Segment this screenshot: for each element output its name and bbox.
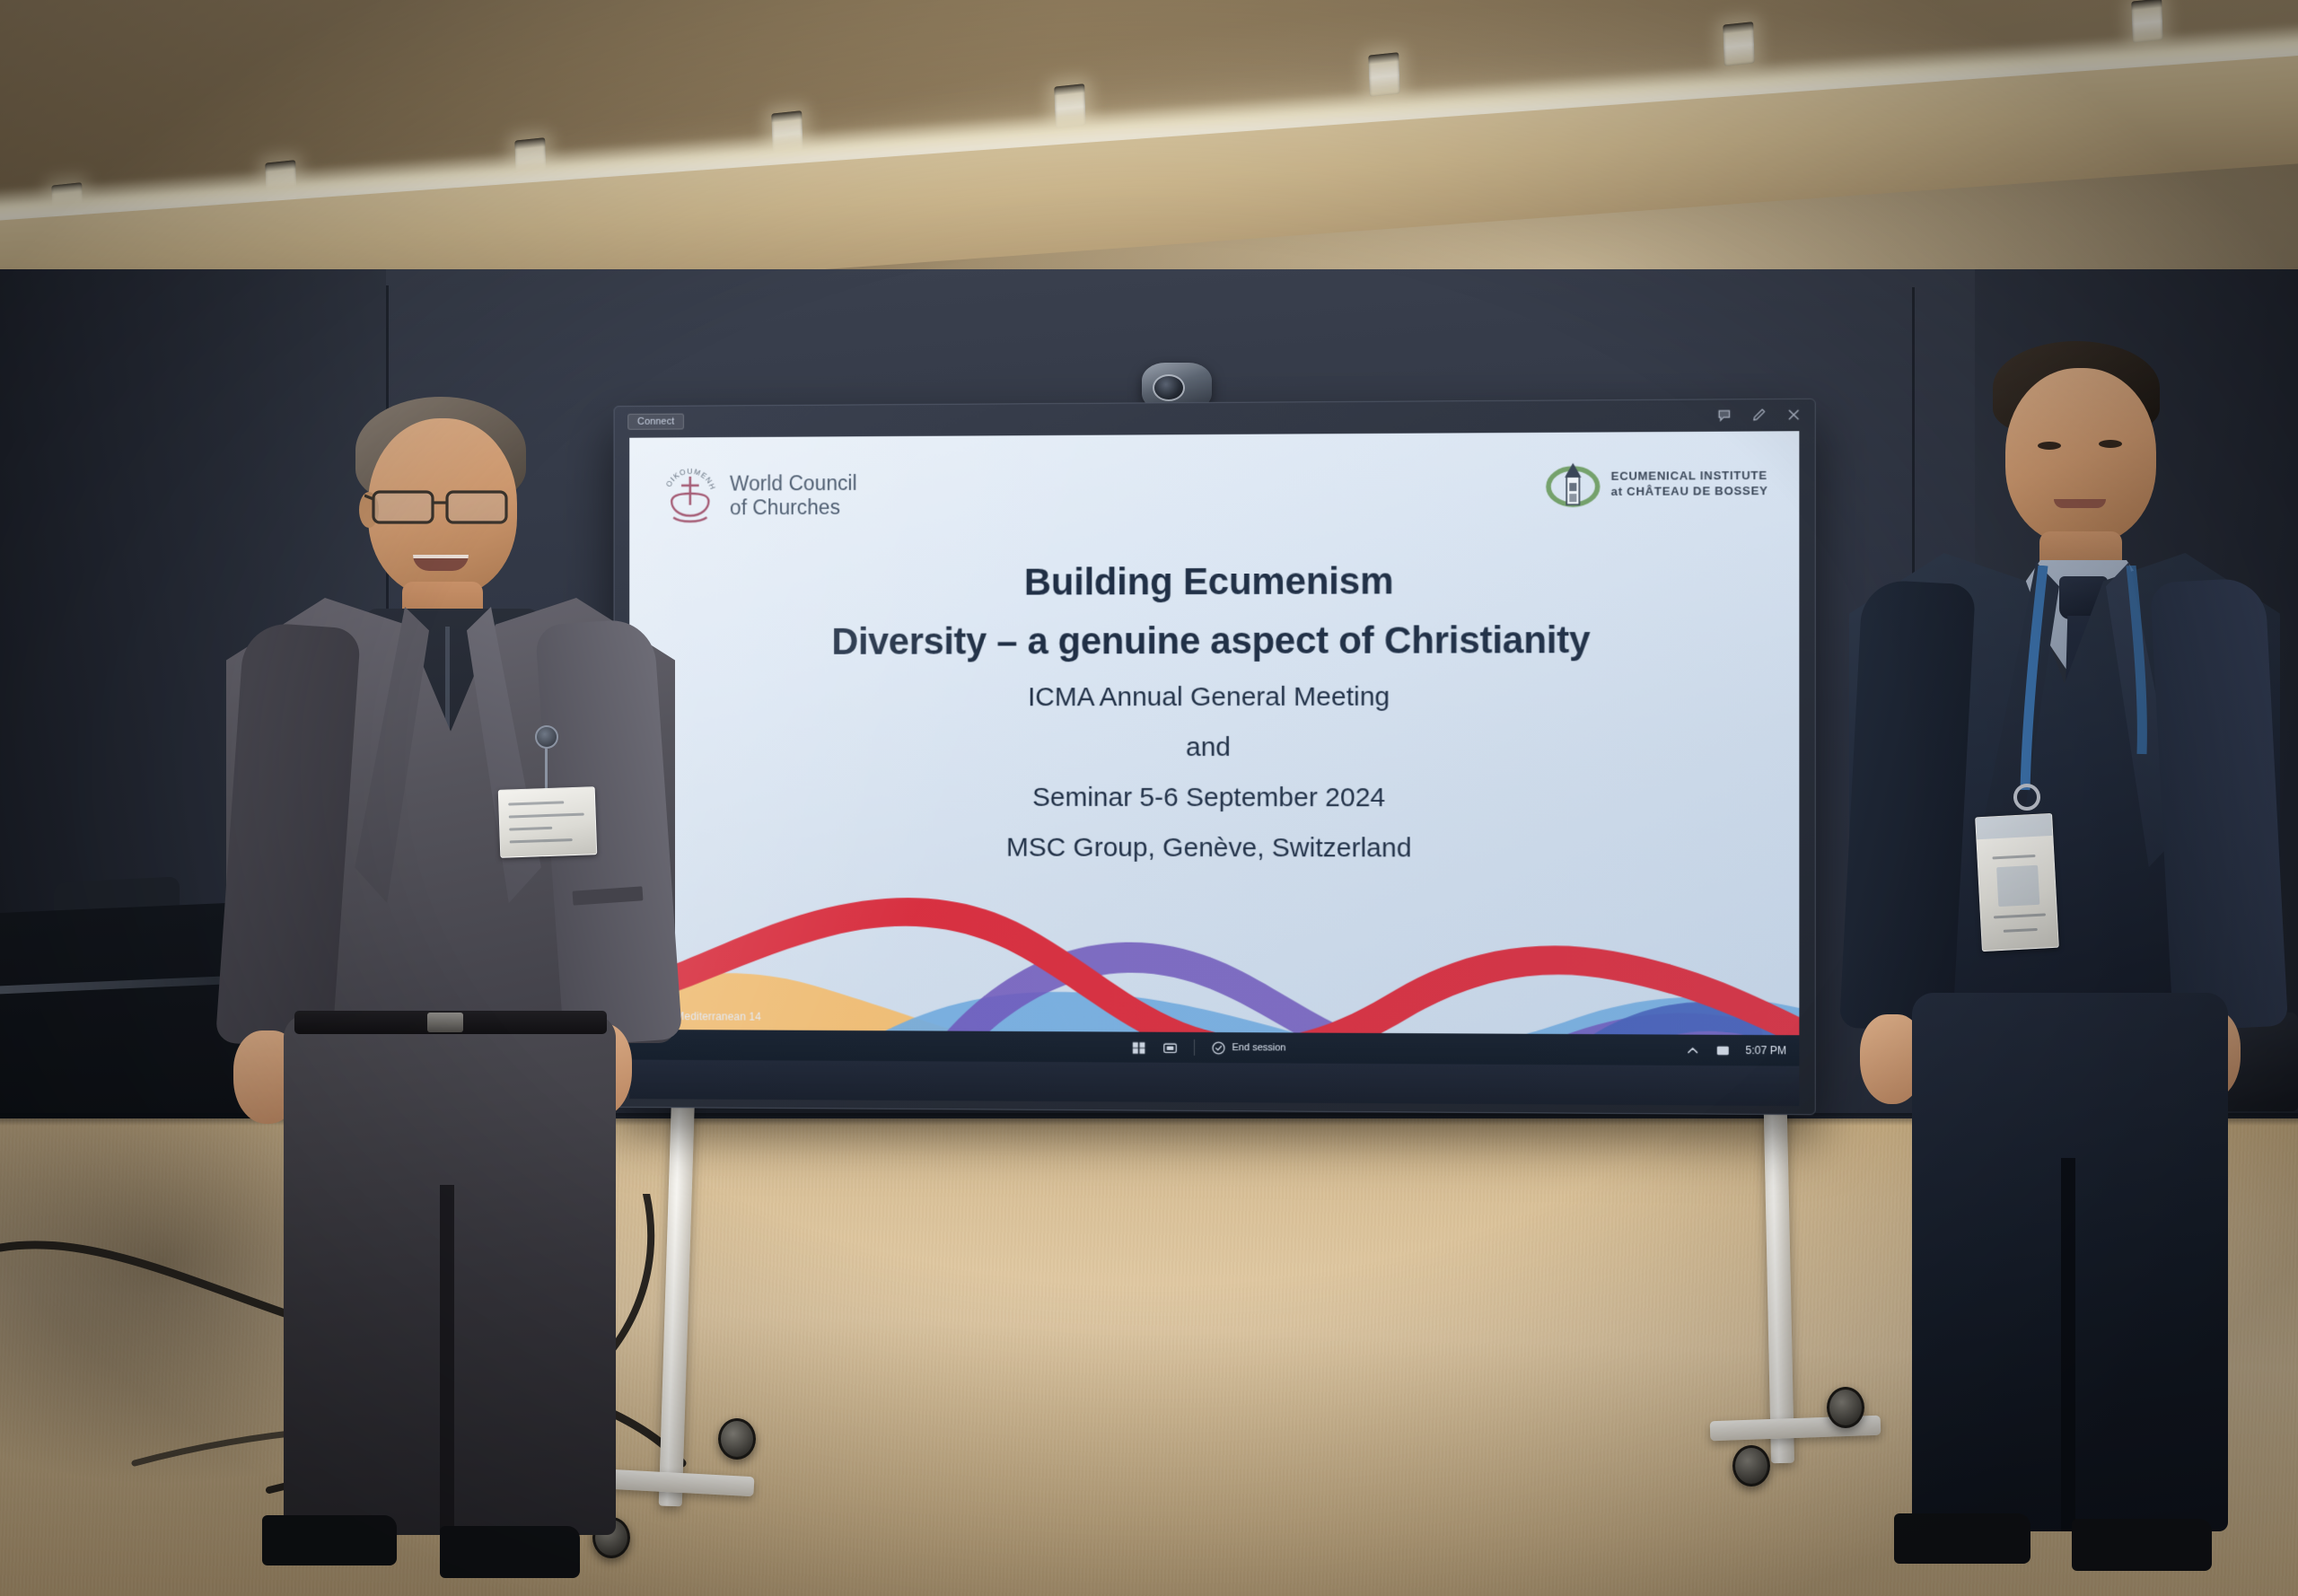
camera-lens-icon (1153, 374, 1185, 401)
person-right-shoe-left (1894, 1513, 2030, 1564)
taskbar-tray[interactable]: 5:07 PM (1685, 1035, 1786, 1066)
taskbar-clock[interactable]: 5:07 PM (1746, 1044, 1787, 1057)
bossey-emblem-icon (1545, 458, 1601, 513)
wcc-logo-text: World Councilof Churches (730, 471, 857, 521)
badge-line (1992, 855, 2035, 860)
bossey-logo-line2: at CHÂTEAU DE BOSSEY (1611, 484, 1768, 498)
end-session-button[interactable]: End session (1211, 1040, 1286, 1056)
notification-icon[interactable] (1715, 1042, 1731, 1057)
badge-header-band (1976, 814, 2052, 839)
badge-line (1994, 913, 2046, 918)
badge-line (508, 801, 564, 805)
person-right-sleeve-left (1839, 579, 1976, 1033)
slide-subtitle-1: ICMA Annual General Meeting (629, 681, 1799, 713)
chevron-up-icon[interactable] (1685, 1042, 1700, 1057)
person-left (144, 395, 682, 1596)
badge-photo (1996, 865, 2039, 907)
display-chin-bar (629, 1059, 1799, 1106)
bossey-logo-text: ECUMENICAL INSTITUTEat CHÂTEAU DE BOSSEY (1611, 469, 1768, 499)
presentation-slide: OIKOUMENH World Councilof Churches ECUME… (629, 431, 1799, 1065)
slide-subtitle-2: and (629, 732, 1799, 763)
person-right-badge (1975, 813, 2059, 951)
slide-title-line-2: Diversity – a genuine aspect of Christia… (629, 618, 1799, 663)
person-right-trouser-split (2061, 1158, 2075, 1531)
interactive-display[interactable]: Connect (614, 399, 1816, 1116)
person-right (1786, 341, 2289, 1596)
person-right-shoe-right (2072, 1519, 2212, 1571)
display-screen[interactable]: OIKOUMENH World Councilof Churches ECUME… (629, 431, 1799, 1065)
person-left-badge (498, 786, 598, 858)
stand-caster (718, 1418, 756, 1460)
taskbar-divider (1194, 1039, 1195, 1056)
stand-caster (1732, 1445, 1770, 1486)
wcc-logo: OIKOUMENH World Councilof Churches (662, 463, 856, 528)
person-left-shoe-right (440, 1526, 580, 1578)
badge-line (509, 827, 552, 831)
person-right-sleeve-right (2150, 577, 2288, 1031)
annotate-icon[interactable] (1717, 408, 1732, 422)
check-circle-icon (1211, 1040, 1226, 1056)
taskbar-center-group[interactable]: End session (1131, 1039, 1286, 1057)
pen-icon[interactable] (1751, 408, 1766, 422)
room-photo-scene: Connect (0, 0, 2298, 1596)
windows-start-icon[interactable] (1131, 1039, 1146, 1055)
badge-line (2004, 928, 2038, 933)
person-right-mouth (2054, 499, 2106, 508)
slide-text-block: Building Ecumenism Diversity – a genuine… (629, 558, 1799, 885)
person-left-mouth (413, 555, 469, 571)
person-left-belt-buckle (427, 1013, 463, 1032)
badge-line (510, 838, 573, 843)
person-right-lanyard (2007, 566, 2169, 835)
person-left-trouser-split (440, 1185, 454, 1537)
person-left-glasses (364, 481, 526, 533)
person-left-shoe-left (262, 1515, 397, 1565)
slide-subtitle-3: Seminar 5-6 September 2024 (629, 783, 1799, 814)
person-right-head (2005, 368, 2156, 544)
person-right-eye-right (2099, 440, 2122, 448)
end-session-label: End session (1232, 1042, 1286, 1053)
bossey-logo: ECUMENICAL INSTITUTEat CHÂTEAU DE BOSSEY (1545, 457, 1768, 513)
person-left-badge-clip (535, 725, 558, 749)
person-right-eye-left (2038, 442, 2061, 450)
display-icon[interactable] (1162, 1039, 1178, 1055)
bossey-logo-line1: ECUMENICAL INSTITUTE (1611, 469, 1767, 483)
wcc-logo-line2: of Churches (730, 495, 840, 519)
wcc-logo-line1: World Council (730, 471, 857, 495)
slide-title-line-1: Building Ecumenism (629, 558, 1799, 605)
badge-line (509, 813, 584, 819)
person-left-badge-cord (545, 747, 548, 790)
